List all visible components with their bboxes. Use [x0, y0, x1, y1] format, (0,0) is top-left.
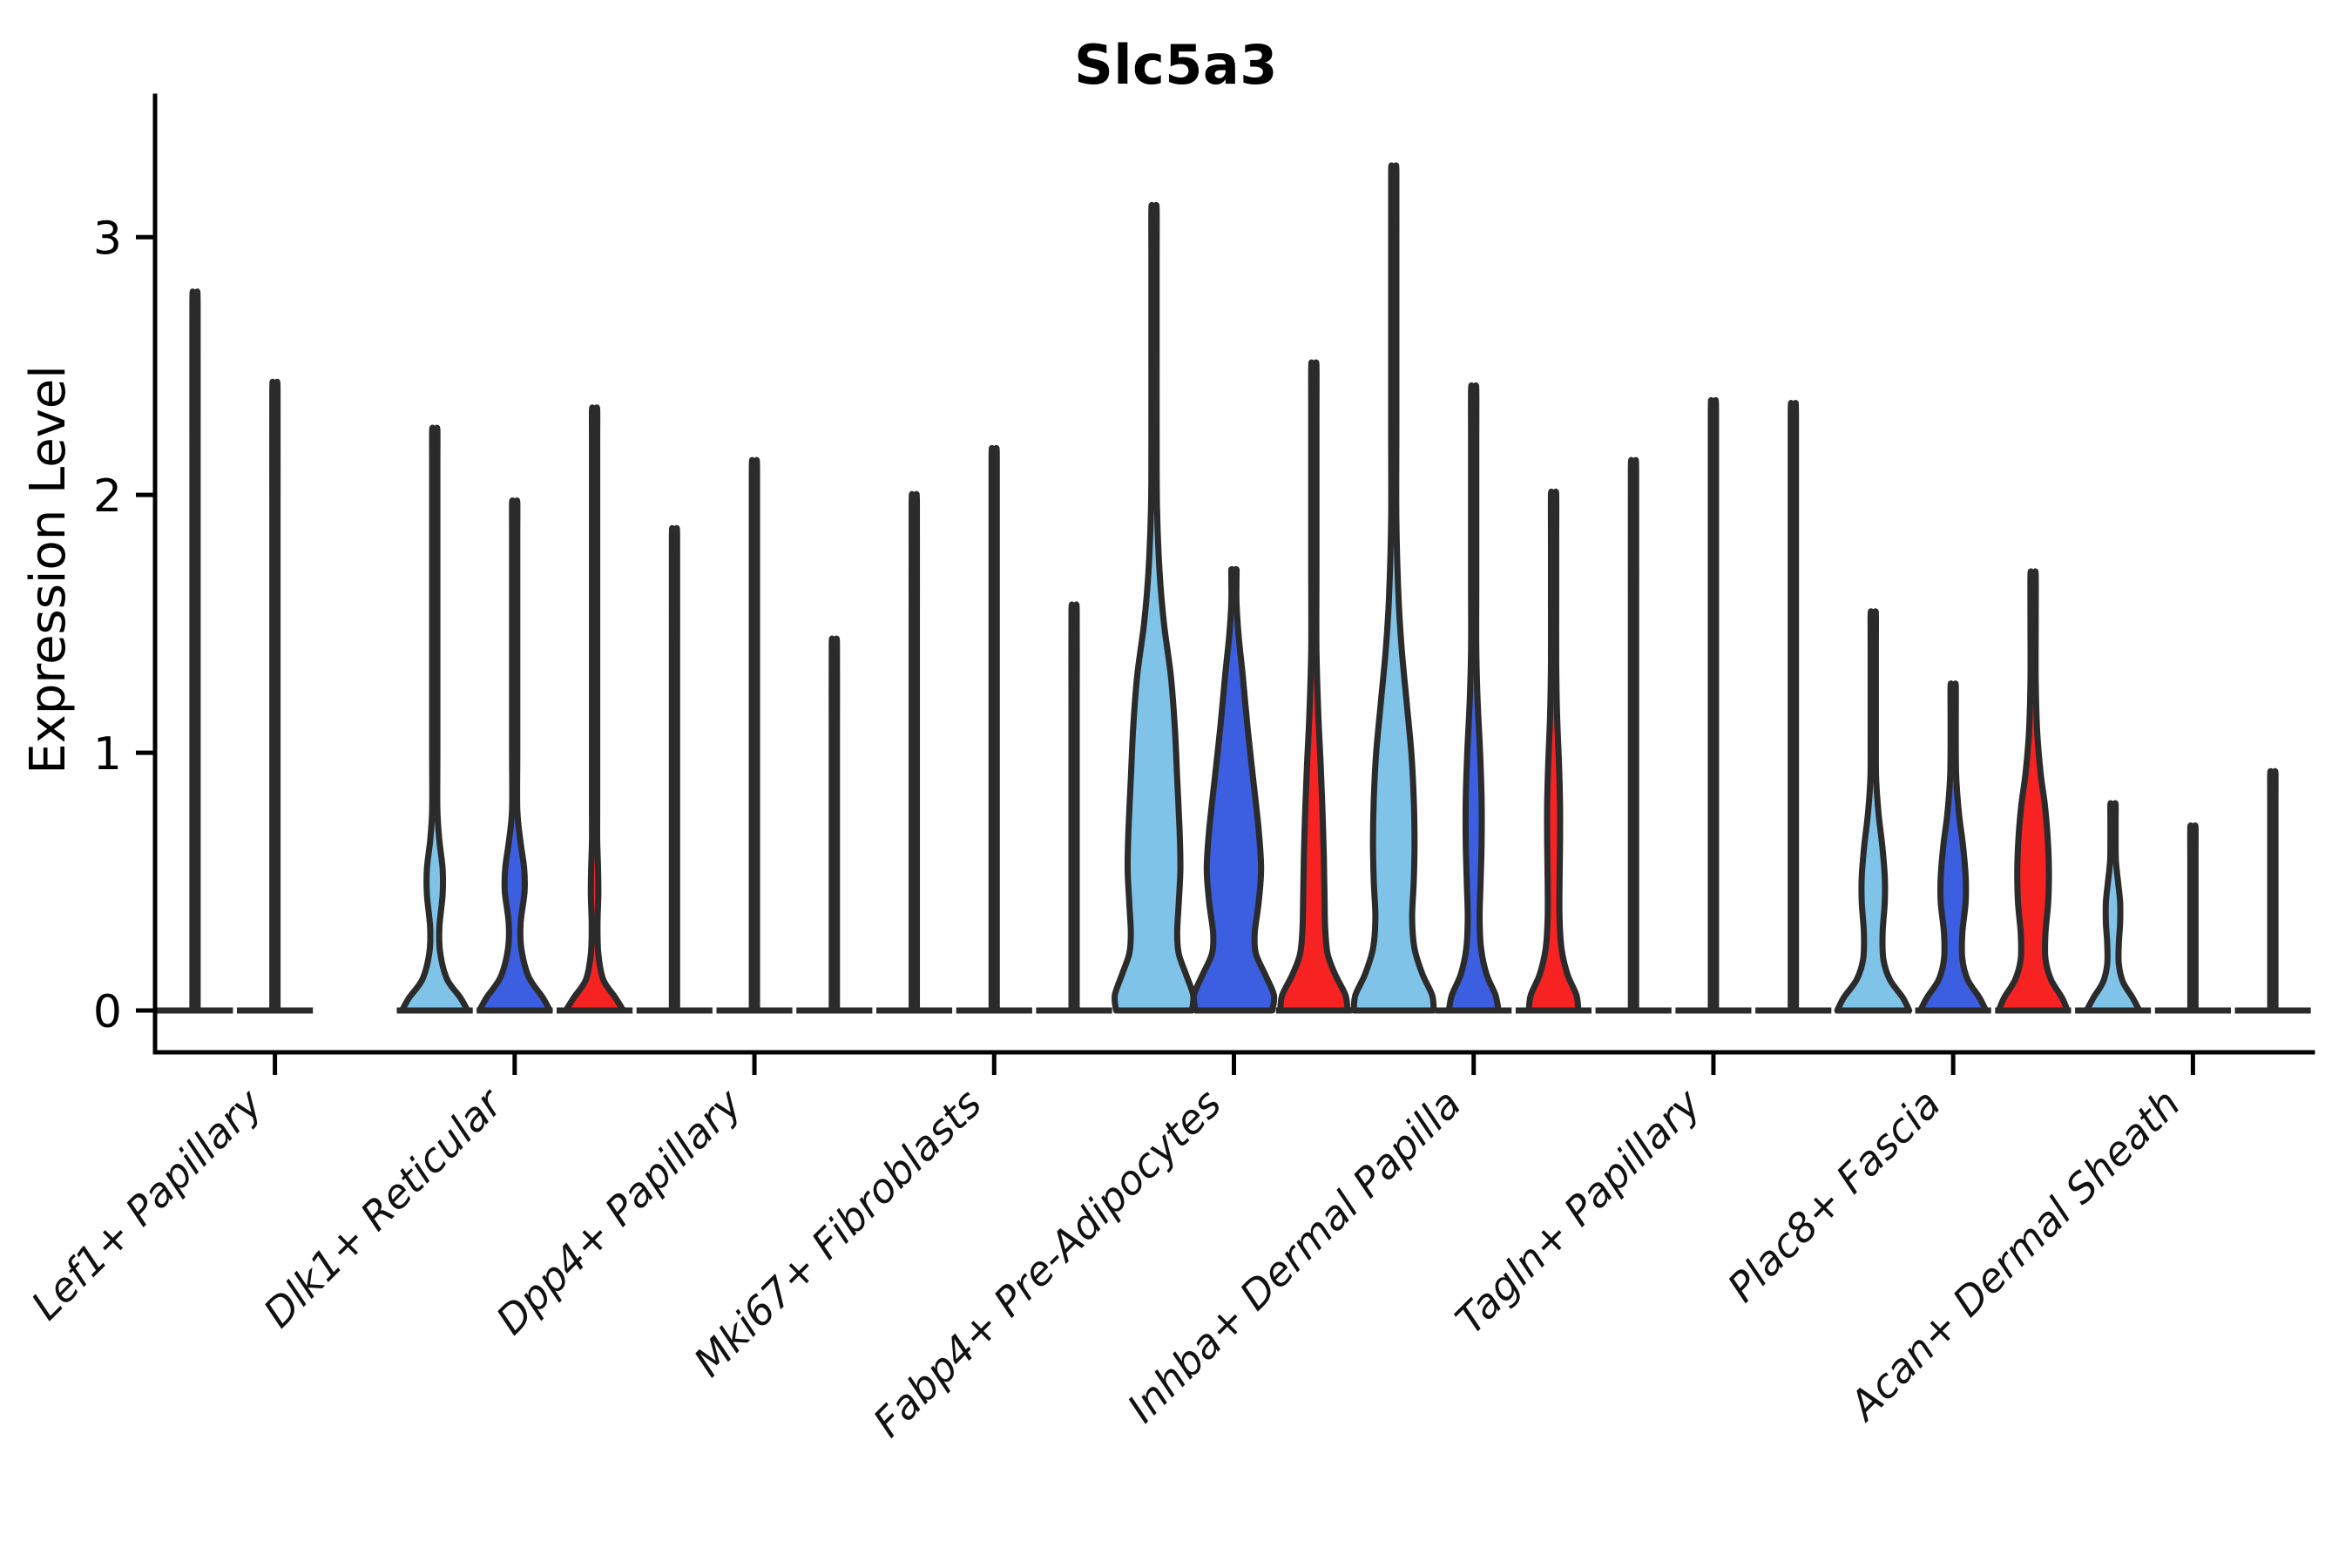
- x-tick-label-1: Dlk1+ Reticular: [254, 1078, 513, 1336]
- violin-group-1: [1837, 612, 1909, 1010]
- violin-group-3: [566, 408, 624, 1010]
- violin-group-2: [1193, 569, 1274, 1010]
- violin-group-2: [479, 501, 550, 1010]
- violin-group: [1835, 571, 2072, 1010]
- violin-group-1: [193, 292, 198, 1010]
- x-tick-labels: Lef1+ PapillaryDlk1+ ReticularDpp4+ Papi…: [22, 1078, 2189, 1446]
- violin-group-3: [1791, 403, 1796, 1010]
- violins-layer: [157, 166, 2310, 1010]
- y-tick-labels: 0123: [93, 213, 122, 1038]
- violin-group: [1354, 166, 1592, 1010]
- violin-group-1: [1115, 205, 1194, 1010]
- violin-group-1: [1354, 166, 1434, 1010]
- violin-group-3: [1998, 571, 2067, 1010]
- violin-group-2: [2190, 826, 2195, 1010]
- y-tick-label: 1: [93, 728, 122, 781]
- x-tick-label-2: Dpp4+ Papillary: [487, 1079, 751, 1343]
- violin-group-3: [832, 639, 837, 1010]
- violin-group: [397, 408, 633, 1010]
- y-axis-label: Expression Level: [20, 365, 77, 774]
- violin-plot-figure: Slc5a3 0123 Lef1+ PapillaryDlk1+ Reticul…: [0, 0, 2352, 1568]
- violin-group-1: [402, 428, 467, 1010]
- violin-group-3: [1071, 605, 1077, 1010]
- violin-group-2: [752, 460, 757, 1010]
- violin-group-3: [2270, 771, 2275, 1010]
- violin-group-2: [273, 382, 278, 1010]
- violin-group-2: [1449, 385, 1498, 1010]
- x-tick-label-7: Plac8+ Fascia: [1719, 1080, 1950, 1311]
- y-tick-label: 2: [93, 470, 122, 523]
- violin-group-2: [1921, 684, 1986, 1010]
- violin-group-2: [1711, 400, 1716, 1010]
- violin-group: [1115, 205, 1352, 1010]
- violin-group-1: [672, 528, 677, 1010]
- violin-group-1: [2086, 803, 2139, 1010]
- violin-group: [637, 460, 873, 1010]
- x-tick-label-0: Lef1+ Papillary: [22, 1079, 271, 1328]
- violin-group: [157, 292, 313, 1010]
- y-tick-label: 0: [93, 986, 122, 1038]
- violin-group-1: [1631, 460, 1636, 1010]
- violin-group: [876, 448, 1112, 1010]
- violin-group-1: [911, 494, 916, 1010]
- y-tick-label: 3: [93, 213, 122, 265]
- y-axis-title: Expression Level: [20, 365, 77, 774]
- violin-group: [2075, 771, 2311, 1010]
- violin-group-3: [1281, 362, 1348, 1010]
- plot-canvas: 0123 Lef1+ PapillaryDlk1+ ReticularDpp4+…: [0, 0, 2352, 1568]
- violin-group-2: [991, 448, 997, 1010]
- violin-group-3: [1529, 491, 1578, 1010]
- x-tick-label-6: Tagln+ Papillary: [1446, 1079, 1710, 1343]
- violin-group: [1596, 400, 1832, 1010]
